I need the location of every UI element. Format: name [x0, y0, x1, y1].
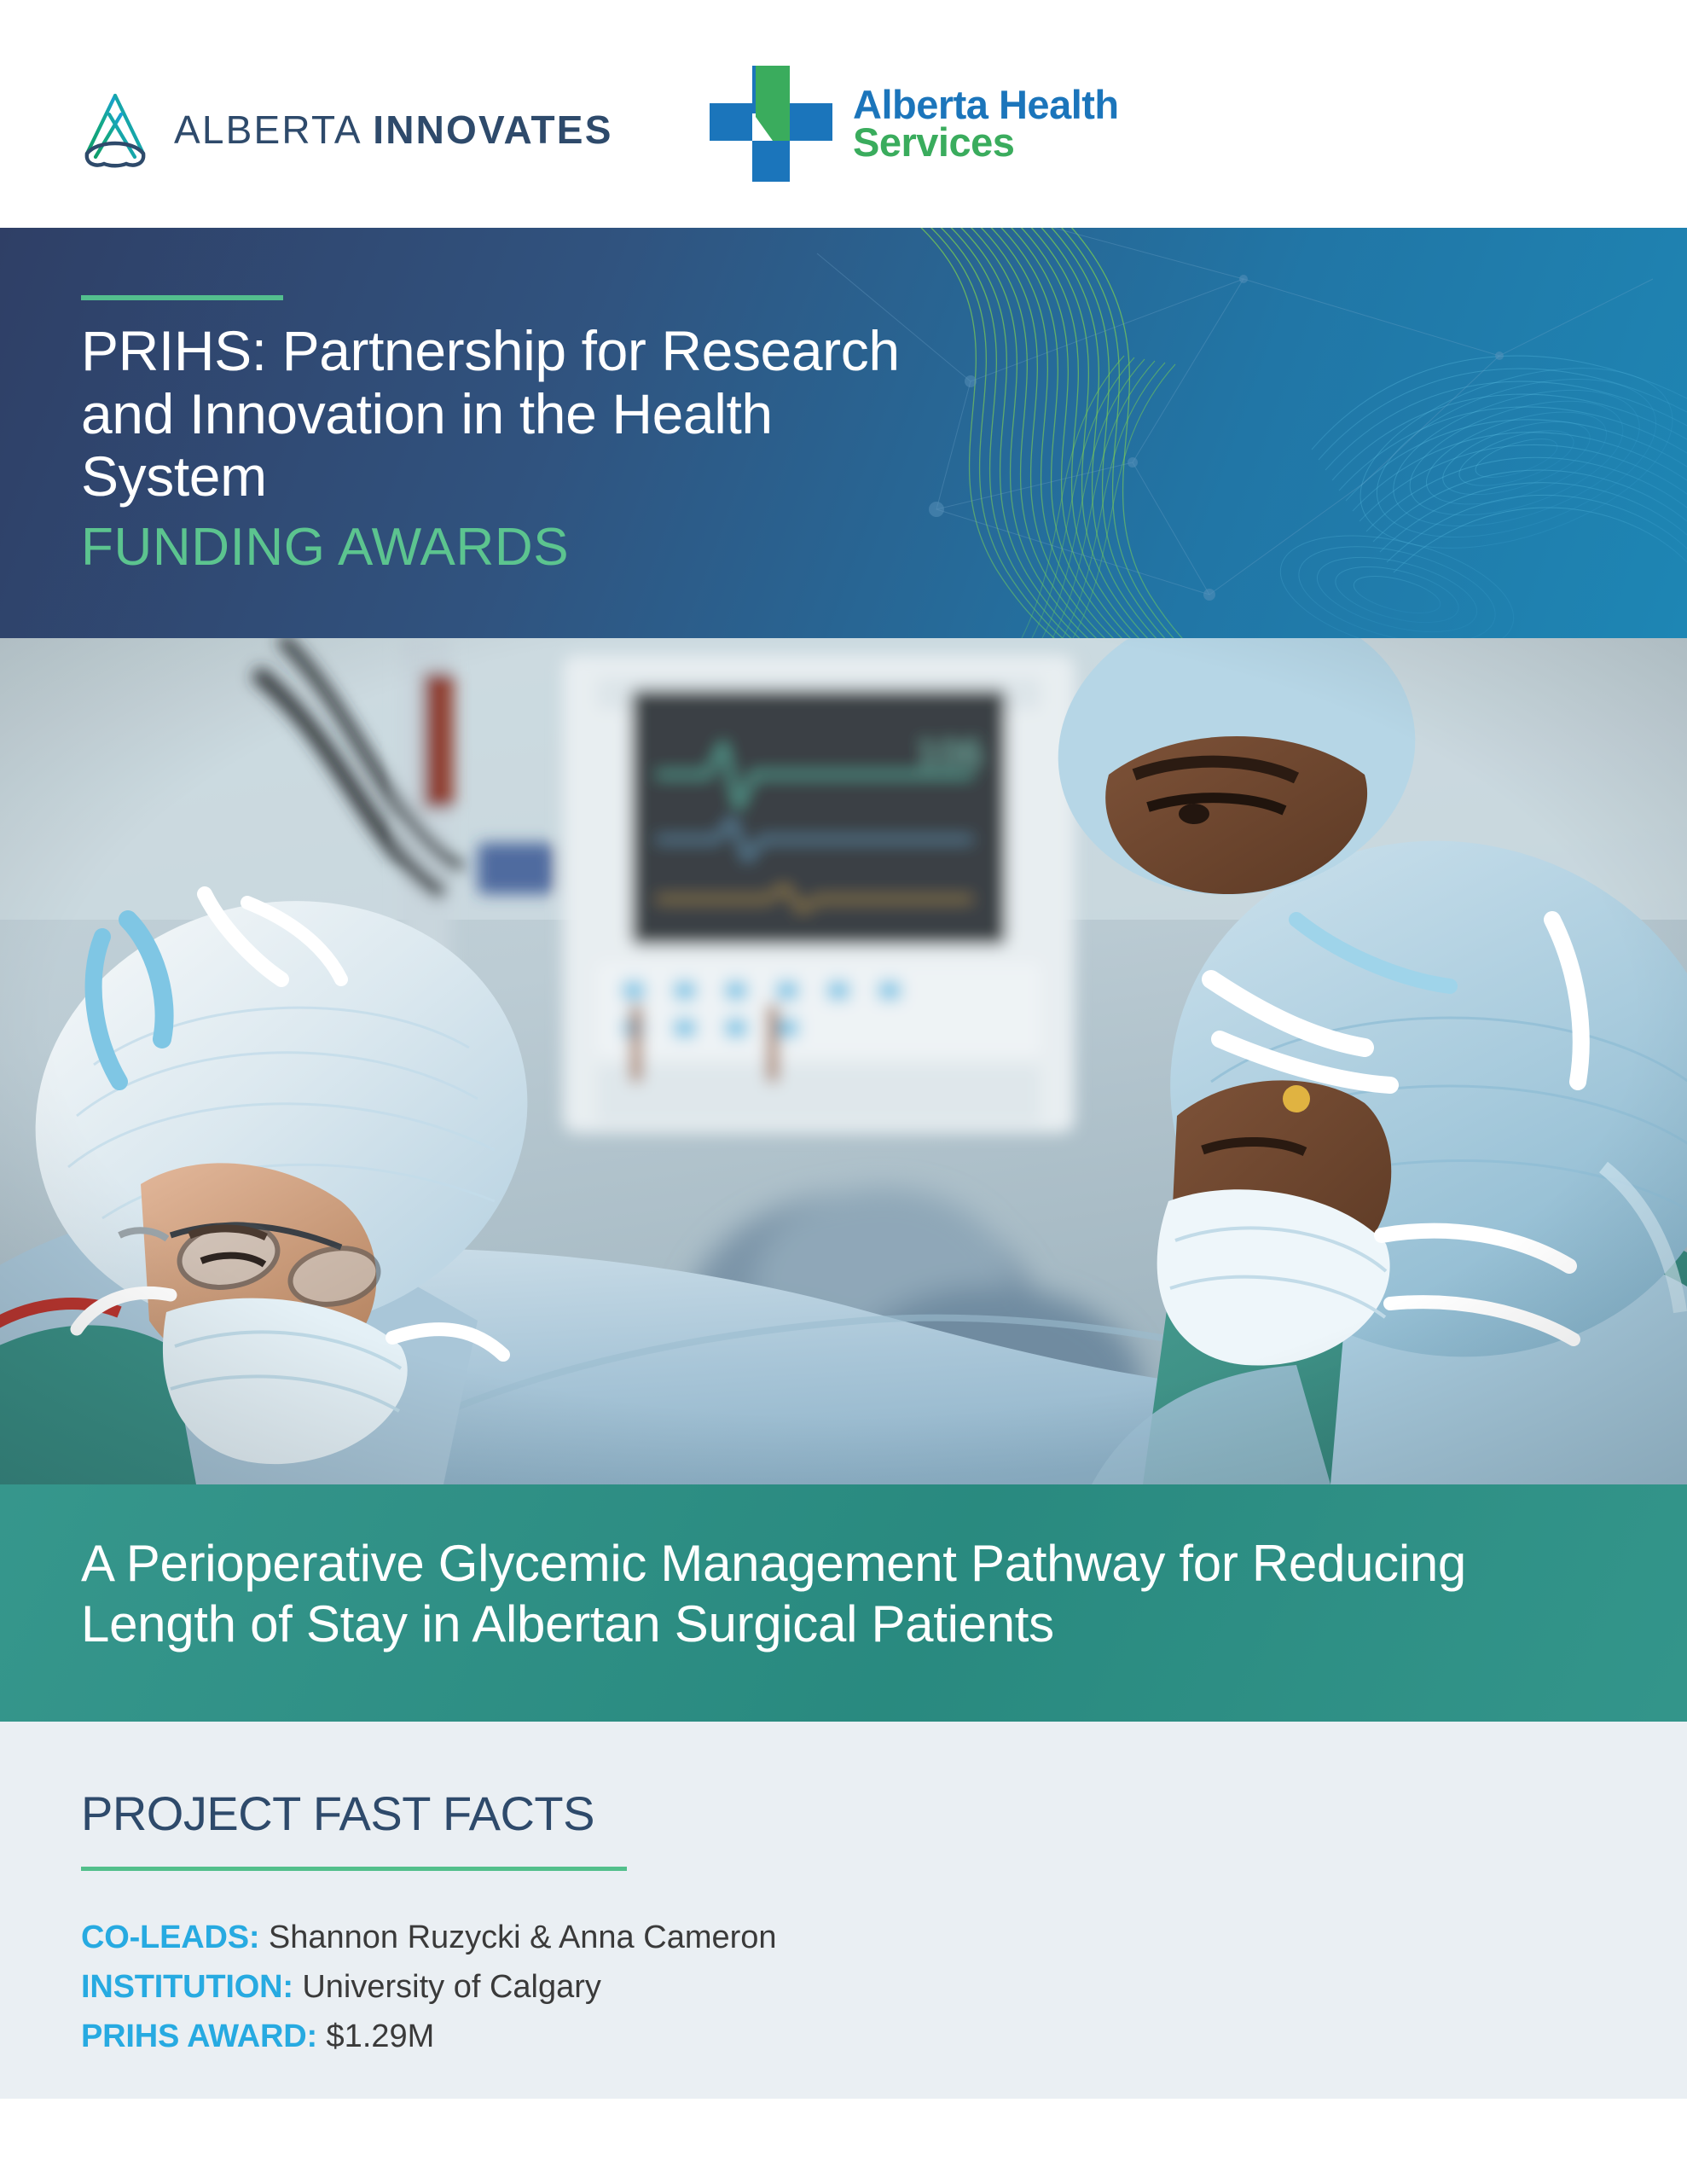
hero-banner: PRIHS: Partnership for Research and Inno…: [0, 228, 1687, 638]
fact-label-prihs-award: PRIHS AWARD:: [81, 2018, 317, 2054]
project-title: A Perioperative Glycemic Management Path…: [81, 1534, 1582, 1655]
fast-facts-list: CO-LEADS: Shannon Ruzycki & Anna Cameron…: [81, 1914, 777, 2061]
alberta-innovates-word-bold: INNOVATES: [373, 107, 612, 152]
fact-label-co-leads: CO-LEADS:: [81, 1920, 259, 1955]
fact-label-institution: INSTITUTION:: [81, 1969, 293, 2005]
health-cross-icon: [708, 64, 834, 183]
hero-accent-rule: [81, 295, 283, 300]
project-title-band: A Perioperative Glycemic Management Path…: [0, 1484, 1687, 1722]
list-item: CO-LEADS: Shannon Ruzycki & Anna Cameron: [81, 1914, 777, 1963]
alberta-innovates-wordmark: ALBERTA INNOVATES: [174, 110, 613, 149]
fast-facts-heading: PROJECT FAST FACTS: [81, 1790, 594, 1838]
list-item: PRIHS AWARD: $1.29M: [81, 2013, 777, 2062]
alberta-innovates-word-light: ALBERTA: [174, 107, 373, 152]
hero-subtitle: FUNDING AWARDS: [81, 521, 569, 574]
operating-room-surgeons-photo: 106: [0, 638, 1687, 1484]
alberta-health-services-logo: Alberta Health Services: [708, 64, 1119, 183]
list-item: INSTITUTION: University of Calgary: [81, 1963, 777, 2013]
fact-value-co-leads: Shannon Ruzycki & Anna Cameron: [269, 1920, 777, 1955]
fast-facts-rule: [81, 1867, 627, 1871]
project-fast-facts-panel: PROJECT FAST FACTS CO-LEADS: Shannon Ruz…: [0, 1722, 1687, 2099]
alberta-innovates-logo: ALBERTA INNOVATES: [78, 89, 613, 171]
ahs-wordmark-line2: Services: [853, 124, 1119, 161]
ahs-wordmark-line1: Alberta Health: [853, 86, 1119, 124]
fact-value-prihs-award: $1.29M: [327, 2018, 435, 2054]
alberta-innovates-arch-icon: [78, 89, 152, 171]
hero-title: PRIHS: Partnership for Research and Inno…: [81, 320, 934, 508]
fact-value-institution: University of Calgary: [302, 1969, 601, 2005]
alberta-health-services-wordmark: Alberta Health Services: [853, 86, 1119, 161]
logo-bar: ALBERTA INNOVATES Alberta Health Service…: [0, 0, 1687, 228]
